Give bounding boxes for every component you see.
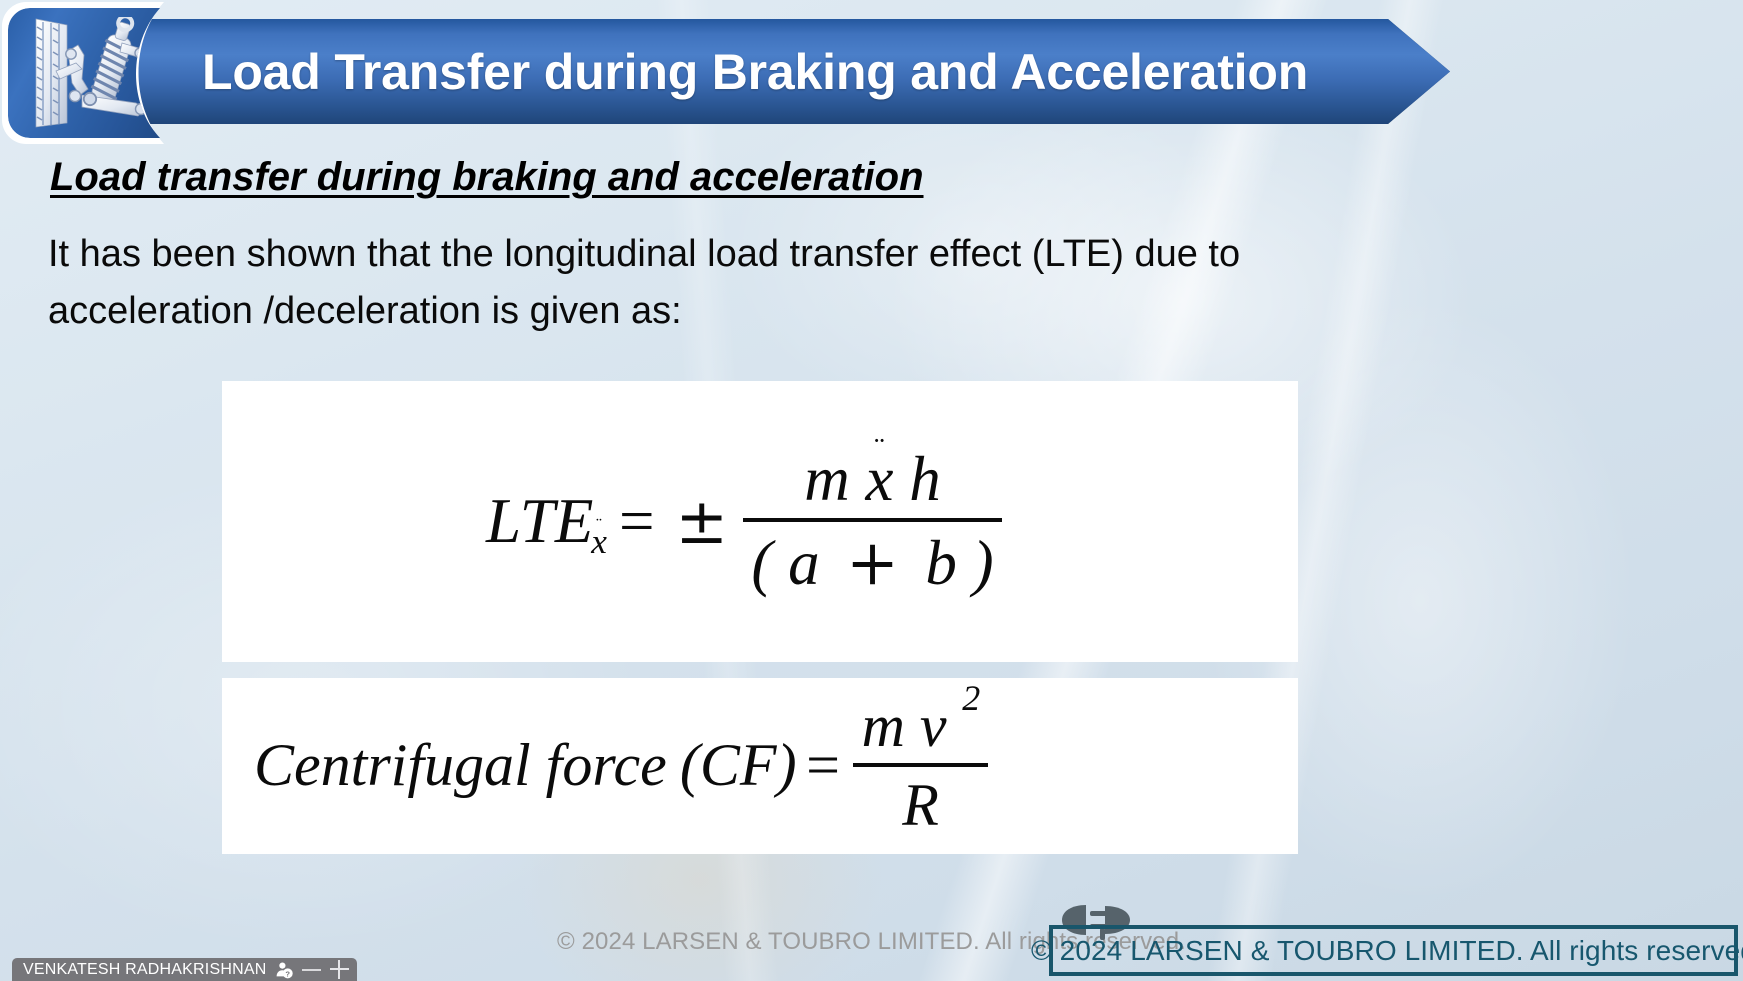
lte-label: LTE — [486, 485, 593, 558]
cf-symbol: CF — [700, 731, 777, 800]
lte-subscript: ¨ x — [591, 522, 607, 562]
minimize-dash-icon[interactable] — [302, 969, 321, 971]
lte-denominator: ( a + b ) — [743, 522, 1003, 600]
cf-label: Centrifugal force — [254, 731, 667, 800]
numerator-height: h — [909, 444, 941, 514]
overlay-copyright-text: © 2024 LARSEN & TOUBRO LIMITED. All righ… — [1031, 935, 1743, 967]
body-paragraph: It has been shown that the longitudinal … — [48, 226, 1473, 340]
lte-formula: LTE ¨ x = ± m ¨ x h ( — [486, 443, 1006, 600]
paragraph-line-1: It has been shown that the longitudinal … — [48, 233, 1240, 275]
equals-sign: = — [806, 731, 840, 800]
numerator-exponent: 2 — [962, 678, 980, 718]
suspension-assembly-icon — [26, 17, 152, 134]
double-dot-accent: ¨ — [874, 433, 886, 465]
plus-icon[interactable] — [330, 960, 349, 979]
numerator-velocity: v — [920, 693, 947, 759]
slide-canvas: Load Transfer during Braking and Acceler… — [0, 0, 1743, 981]
open-paren: ( — [751, 528, 772, 598]
numerator-mass: m — [804, 444, 850, 514]
close-paren: ) — [777, 731, 797, 800]
equals-sign: = — [619, 485, 655, 558]
cf-fraction: m v 2 R — [853, 692, 988, 840]
centrifugal-force-formula: Centrifugal force ( CF ) = m v 2 R — [254, 692, 992, 840]
plus-minus-sign: ± — [675, 485, 728, 558]
page-title: Load Transfer during Braking and Acceler… — [120, 43, 1308, 101]
formula-image-centrifugal-force: Centrifugal force ( CF ) = m v 2 R — [222, 678, 1298, 854]
participant-name: VENKATESH RADHAKRISHNAN — [23, 961, 266, 979]
denominator-b: b — [925, 528, 957, 598]
open-paren: ( — [680, 731, 700, 800]
cf-numerator: m v 2 — [853, 692, 988, 763]
slide-header: Load Transfer during Braking and Acceler… — [0, 0, 1743, 146]
lte-fraction: m ¨ x h ( a + b ) — [743, 443, 1003, 600]
formula-image-lte: LTE ¨ x = ± m ¨ x h ( — [222, 381, 1298, 662]
numerator-mass: m — [862, 693, 905, 759]
person-question-icon[interactable]: ? — [275, 961, 293, 979]
section-subheading: Load transfer during braking and acceler… — [50, 155, 924, 200]
lte-lhs: LTE ¨ x — [486, 485, 609, 558]
double-dot-accent: ¨ — [596, 516, 603, 534]
denominator-a: a — [788, 528, 820, 598]
cf-denominator: R — [894, 767, 947, 840]
copyright-overlay-box: © 2024 LARSEN & TOUBRO LIMITED. All righ… — [1049, 925, 1738, 976]
paragraph-line-2: acceleration /deceleration is given as: — [48, 283, 1473, 340]
svg-text:?: ? — [286, 969, 291, 978]
title-banner: Load Transfer during Braking and Acceler… — [120, 19, 1450, 124]
numerator-accel: ¨ x — [866, 443, 894, 516]
lte-numerator: m ¨ x h — [795, 443, 949, 519]
participant-strip[interactable]: VENKATESH RADHAKRISHNAN ? — [12, 958, 357, 981]
close-paren: ) — [973, 528, 994, 598]
plus-sign: + — [846, 526, 899, 599]
